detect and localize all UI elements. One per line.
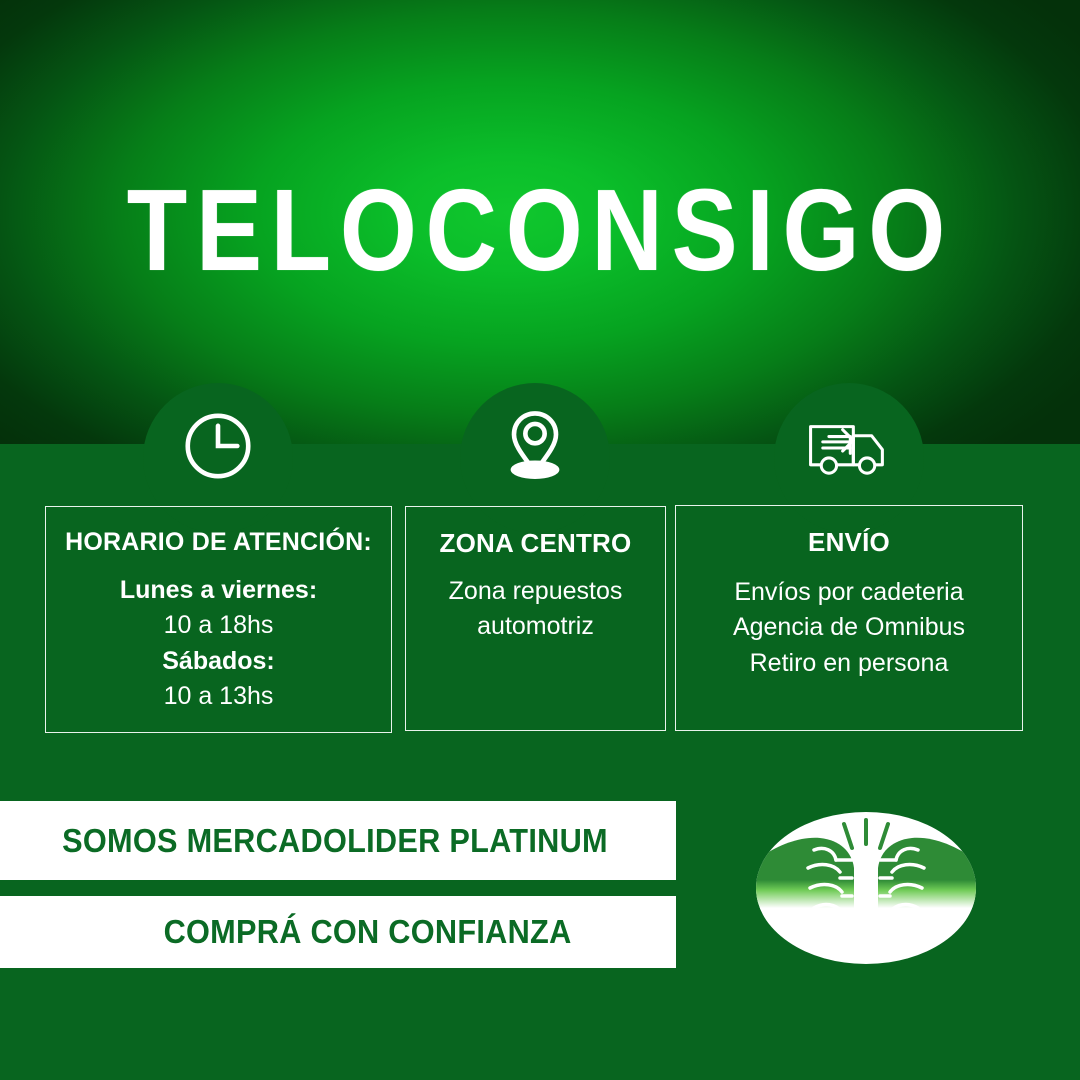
card-line: Lunes a viernes: <box>56 573 381 609</box>
card-line: Retiro en persona <box>686 646 1012 682</box>
fist-bump-badge <box>748 806 984 970</box>
card-line: automotriz <box>416 609 655 645</box>
banner-text: SOMOS MERCADOLIDER PLATINUM <box>23 822 646 860</box>
card-line: 10 a 13hs <box>56 679 381 715</box>
info-card-envio: ENVÍO Envíos por cadeteria Agencia de Om… <box>675 505 1023 731</box>
card-title: HORARIO DE ATENCIÓN: <box>56 529 381 557</box>
delivery-truck-icon <box>806 406 890 490</box>
banner-text: COMPRÁ CON CONFIANZA <box>23 913 646 951</box>
banner-mercadolider: SOMOS MERCADOLIDER PLATINUM <box>0 801 676 880</box>
card-line: Agencia de Omnibus <box>686 610 1012 646</box>
card-line: Zona repuestos <box>416 574 655 610</box>
card-line: 10 a 18hs <box>56 608 381 644</box>
card-line: Envíos por cadeteria <box>686 575 1012 611</box>
promo-banner-canvas: TELOCONSIGO HORARIO DE ATENCIÓN: <box>0 0 1080 1080</box>
info-card-zona: ZONA CENTRO Zona repuestos automotriz <box>405 506 666 731</box>
card-title: ZONA CENTRO <box>416 529 655 558</box>
card-line: Sábados: <box>56 644 381 680</box>
clock-icon <box>176 404 260 488</box>
card-title: ENVÍO <box>686 528 1012 557</box>
background-gradient-top <box>0 0 1080 444</box>
banner-confianza: COMPRÁ CON CONFIANZA <box>0 896 676 968</box>
location-pin-icon <box>493 400 577 484</box>
info-card-horario: HORARIO DE ATENCIÓN: Lunes a viernes: 10… <box>45 506 392 733</box>
